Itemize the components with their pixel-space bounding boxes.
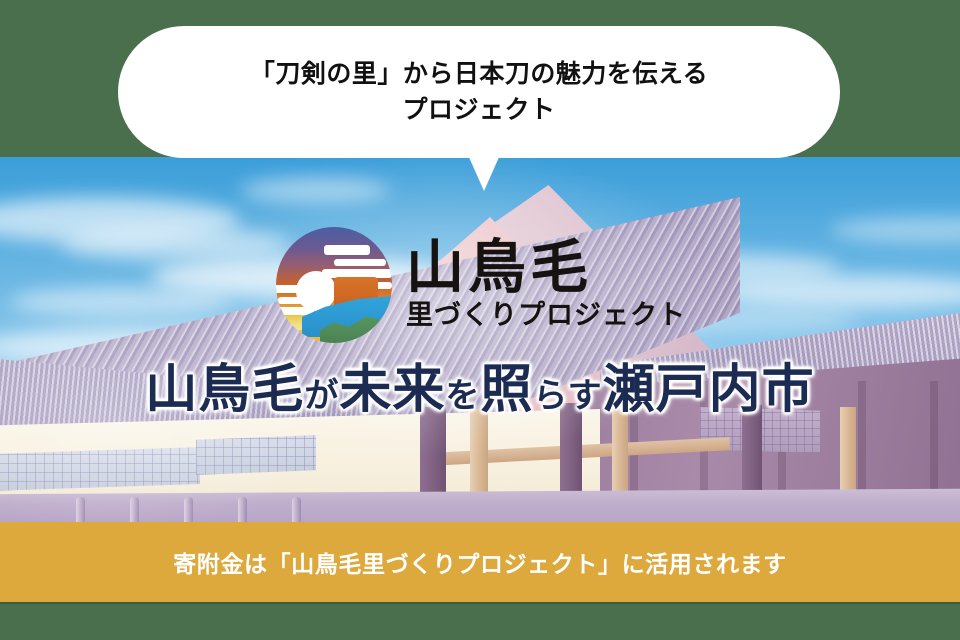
logo-wordmark-main: 山鳥毛 bbox=[406, 238, 686, 297]
donation-usage-text: 寄附金は「山鳥毛里づくりプロジェクト」に活用されます bbox=[173, 545, 787, 579]
donation-usage-banner: 寄附金は「山鳥毛里づくりプロジェクト」に活用されます bbox=[0, 522, 960, 604]
hero-photo: 山鳥毛 里づくりプロジェクト 山鳥毛が未来を照らす瀬戸内市 bbox=[0, 157, 960, 522]
bottom-background-fill bbox=[0, 604, 960, 640]
katana-blade-overlay bbox=[0, 397, 960, 517]
project-logo: 山鳥毛 里づくりプロジェクト bbox=[276, 227, 686, 343]
cloud-band bbox=[334, 259, 386, 266]
speech-bubble-line: プロジェクト bbox=[250, 92, 708, 128]
cloud-shape bbox=[10, 287, 230, 317]
speech-bubble: 「刀剣の里」から日本刀の魅力を伝える プロジェクト bbox=[118, 26, 840, 158]
sunset-sea-mountain-emblem-icon bbox=[276, 227, 392, 343]
hero-banner-card: 山鳥毛 里づくりプロジェクト 山鳥毛が未来を照らす瀬戸内市 bbox=[0, 0, 960, 640]
cloud-shape bbox=[240, 177, 390, 203]
speech-bubble-line: 「刀剣の里」から日本刀の魅力を伝える bbox=[250, 56, 708, 92]
cloud-band bbox=[276, 285, 310, 293]
cloud-band bbox=[276, 307, 314, 315]
speech-bubble-text: 「刀剣の里」から日本刀の魅力を伝える プロジェクト bbox=[250, 56, 708, 129]
cloud-band bbox=[324, 245, 370, 255]
cloud-shape bbox=[60, 227, 290, 261]
speech-bubble-tail-icon bbox=[468, 155, 500, 191]
logo-wordmark-sub: 里づくりプロジェクト bbox=[406, 299, 686, 333]
logo-wordmark: 山鳥毛 里づくりプロジェクト bbox=[406, 238, 686, 333]
cloud-band bbox=[278, 297, 322, 304]
